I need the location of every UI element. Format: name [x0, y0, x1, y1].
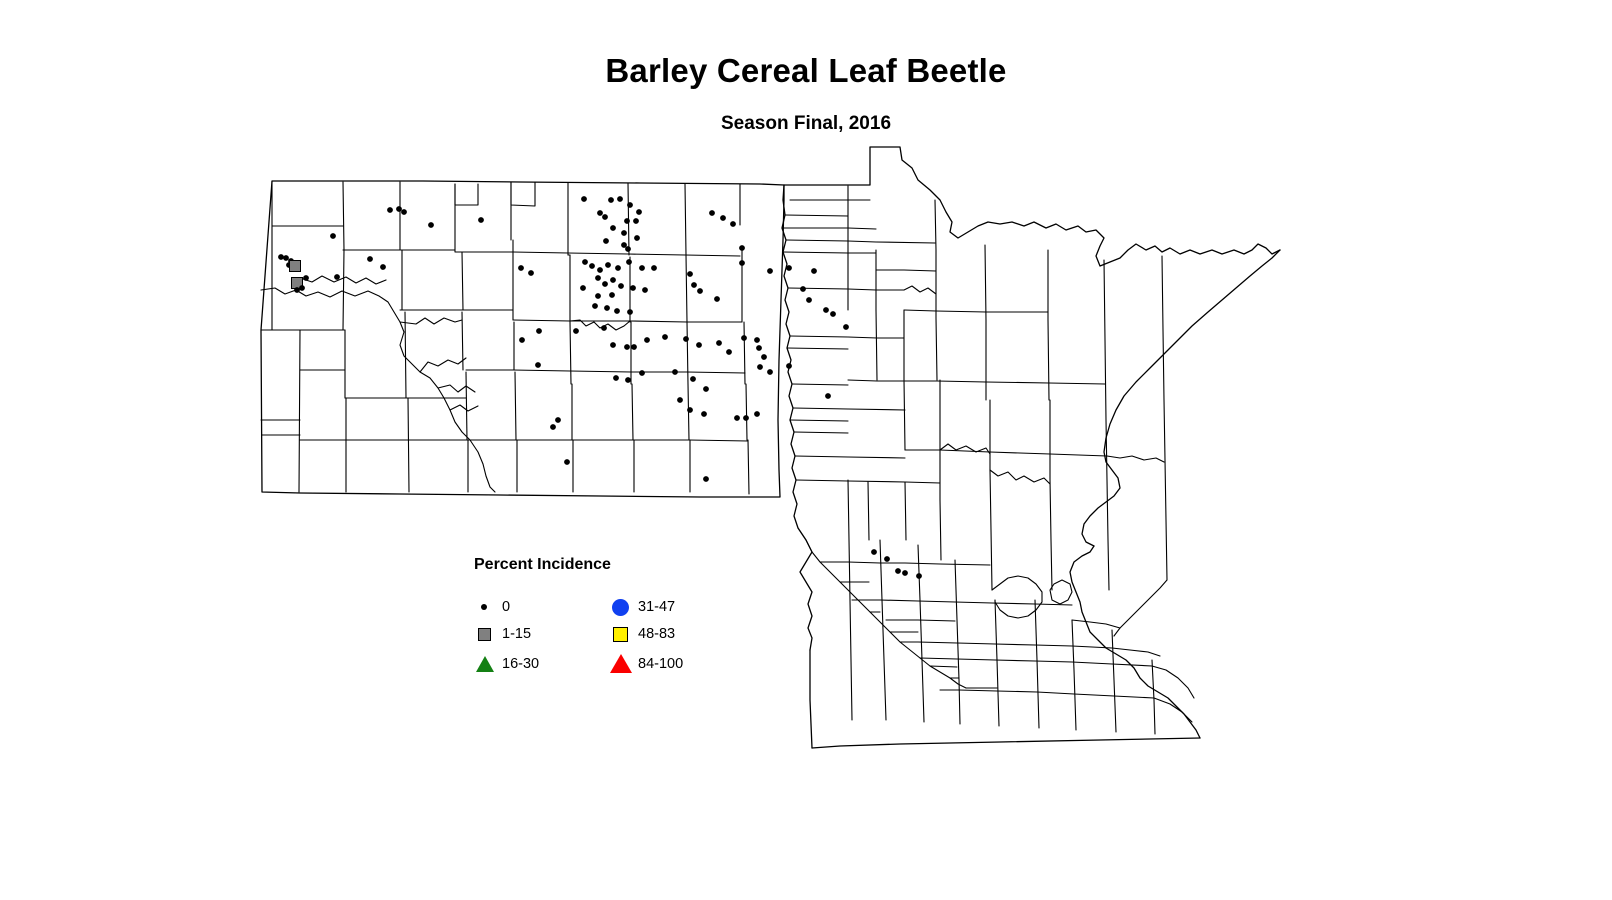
- legend-symbol-gray-square: [474, 623, 496, 645]
- map-point-0[interactable]: [823, 307, 829, 313]
- map-point-0[interactable]: [627, 309, 633, 315]
- map-point-1-15[interactable]: [290, 261, 301, 272]
- map-point-0[interactable]: [830, 311, 836, 317]
- map-point-0[interactable]: [609, 292, 615, 298]
- map-point-0[interactable]: [672, 369, 678, 375]
- map-point-0[interactable]: [613, 375, 619, 381]
- map-point-0[interactable]: [595, 275, 601, 281]
- map-point-0[interactable]: [535, 362, 541, 368]
- map-point-0[interactable]: [592, 303, 598, 309]
- map-point-0[interactable]: [677, 397, 683, 403]
- map-point-0[interactable]: [299, 285, 305, 291]
- legend-symbol-green-triangle: [474, 653, 496, 675]
- map-point-0[interactable]: [714, 296, 720, 302]
- map-svg: [0, 0, 1612, 900]
- legend-label-5: 84-100: [638, 656, 683, 672]
- county-boundaries: [261, 147, 1280, 748]
- map-point-0[interactable]: [651, 265, 657, 271]
- map-point-0[interactable]: [625, 246, 631, 252]
- map-point-0[interactable]: [550, 424, 556, 430]
- map-point-0[interactable]: [528, 270, 534, 276]
- legend-symbol-yellow-square: [610, 623, 632, 645]
- map-point-0[interactable]: [709, 210, 715, 216]
- legend-label-0: 0: [502, 599, 510, 615]
- map-point-0[interactable]: [761, 354, 767, 360]
- map-point-0[interactable]: [428, 222, 434, 228]
- map-point-0[interactable]: [478, 217, 484, 223]
- map-point-0[interactable]: [871, 549, 877, 555]
- map-point-0[interactable]: [754, 411, 760, 417]
- map-point-0[interactable]: [644, 337, 650, 343]
- map-point-0[interactable]: [581, 196, 587, 202]
- map-point-0[interactable]: [690, 376, 696, 382]
- legend-symbol-dot: [474, 596, 496, 618]
- map-point-0[interactable]: [884, 556, 890, 562]
- map-point-0[interactable]: [330, 233, 336, 239]
- map-point-0[interactable]: [610, 342, 616, 348]
- map-point-0[interactable]: [601, 325, 607, 331]
- map-point-0[interactable]: [754, 337, 760, 343]
- map-point-0[interactable]: [625, 377, 631, 383]
- map-point-0[interactable]: [916, 573, 922, 579]
- map-point-0[interactable]: [687, 271, 693, 277]
- map-point-0[interactable]: [597, 267, 603, 273]
- legend-label-4: 48-83: [638, 626, 675, 642]
- map-point-0[interactable]: [767, 268, 773, 274]
- map-point-0[interactable]: [564, 459, 570, 465]
- map-point-0[interactable]: [786, 363, 792, 369]
- map-point-0[interactable]: [696, 342, 702, 348]
- map-page: Barley Cereal Leaf Beetle Season Final, …: [0, 0, 1612, 900]
- map-point-0[interactable]: [396, 206, 402, 212]
- legend-symbol-blue-circle: [610, 596, 632, 618]
- legend-title: Percent Incidence: [474, 556, 611, 574]
- map-point-0[interactable]: [621, 230, 627, 236]
- map-point-0[interactable]: [614, 308, 620, 314]
- map-point-0[interactable]: [604, 305, 610, 311]
- map-point-0[interactable]: [739, 260, 745, 266]
- map-point-0[interactable]: [800, 286, 806, 292]
- map-point-0[interactable]: [610, 225, 616, 231]
- map-point-0[interactable]: [631, 344, 637, 350]
- map-point-0[interactable]: [582, 259, 588, 265]
- map-point-0[interactable]: [618, 283, 624, 289]
- map-point-0[interactable]: [610, 277, 616, 283]
- map-point-0[interactable]: [294, 287, 300, 293]
- map-point-0[interactable]: [741, 335, 747, 341]
- map-point-0[interactable]: [636, 209, 642, 215]
- map-point-0[interactable]: [697, 288, 703, 294]
- map-point-0[interactable]: [602, 214, 608, 220]
- map-point-0[interactable]: [726, 349, 732, 355]
- map-point-0[interactable]: [811, 268, 817, 274]
- map-point-0[interactable]: [617, 196, 623, 202]
- map-point-0[interactable]: [902, 570, 908, 576]
- map-point-0[interactable]: [597, 210, 603, 216]
- map-point-0[interactable]: [743, 415, 749, 421]
- map-point-0[interactable]: [589, 263, 595, 269]
- map-point-0[interactable]: [701, 411, 707, 417]
- map-point-0[interactable]: [334, 274, 340, 280]
- map-point-0[interactable]: [687, 407, 693, 413]
- legend-label-2: 16-30: [502, 656, 539, 672]
- map-point-0[interactable]: [683, 336, 689, 342]
- map-point-0[interactable]: [739, 245, 745, 251]
- map-point-0[interactable]: [624, 218, 630, 224]
- map-point-0[interactable]: [624, 344, 630, 350]
- map-point-0[interactable]: [555, 417, 561, 423]
- map-point-0[interactable]: [703, 476, 709, 482]
- map-point-0[interactable]: [603, 238, 609, 244]
- map-point-0[interactable]: [756, 345, 762, 351]
- map-point-0[interactable]: [639, 370, 645, 376]
- map-point-0[interactable]: [767, 369, 773, 375]
- map-point-0[interactable]: [662, 334, 668, 340]
- map-point-0[interactable]: [757, 364, 763, 370]
- map-point-0[interactable]: [380, 264, 386, 270]
- legend: Percent Incidence 0 1-15 16-30 31-47 48-…: [474, 556, 704, 691]
- legend-symbol-red-triangle: [610, 653, 632, 675]
- legend-label-1: 1-15: [502, 626, 531, 642]
- map-point-0[interactable]: [573, 328, 579, 334]
- map-point-0[interactable]: [615, 265, 621, 271]
- map-point-0[interactable]: [605, 262, 611, 268]
- map-point-0[interactable]: [626, 259, 632, 265]
- map-point-0[interactable]: [283, 255, 289, 261]
- map-point-0[interactable]: [895, 568, 901, 574]
- map-point-0[interactable]: [642, 287, 648, 293]
- map-point-0[interactable]: [278, 254, 284, 260]
- map-point-0[interactable]: [367, 256, 373, 262]
- map-point-0[interactable]: [730, 221, 736, 227]
- map-point-0[interactable]: [602, 281, 608, 287]
- map-point-0[interactable]: [401, 209, 407, 215]
- map-point-0[interactable]: [580, 285, 586, 291]
- map-point-0[interactable]: [519, 337, 525, 343]
- map-point-0[interactable]: [843, 324, 849, 330]
- map-point-0[interactable]: [691, 282, 697, 288]
- map-point-0[interactable]: [627, 202, 633, 208]
- legend-label-3: 31-47: [638, 599, 675, 615]
- map-point-0[interactable]: [734, 415, 740, 421]
- map-point-0[interactable]: [518, 265, 524, 271]
- map-point-0[interactable]: [786, 265, 792, 271]
- map-point-0[interactable]: [703, 386, 709, 392]
- map-point-0[interactable]: [536, 328, 542, 334]
- map-point-0[interactable]: [387, 207, 393, 213]
- map-point-0[interactable]: [633, 218, 639, 224]
- map-point-0[interactable]: [630, 285, 636, 291]
- map-point-0[interactable]: [634, 235, 640, 241]
- map-point-0[interactable]: [825, 393, 831, 399]
- map-point-0[interactable]: [608, 197, 614, 203]
- map-point-0[interactable]: [595, 293, 601, 299]
- map-point-0[interactable]: [806, 297, 812, 303]
- map-point-0[interactable]: [720, 215, 726, 221]
- map-container[interactable]: [0, 0, 1612, 900]
- map-point-0[interactable]: [639, 265, 645, 271]
- map-point-0[interactable]: [716, 340, 722, 346]
- map-point-0[interactable]: [303, 275, 309, 281]
